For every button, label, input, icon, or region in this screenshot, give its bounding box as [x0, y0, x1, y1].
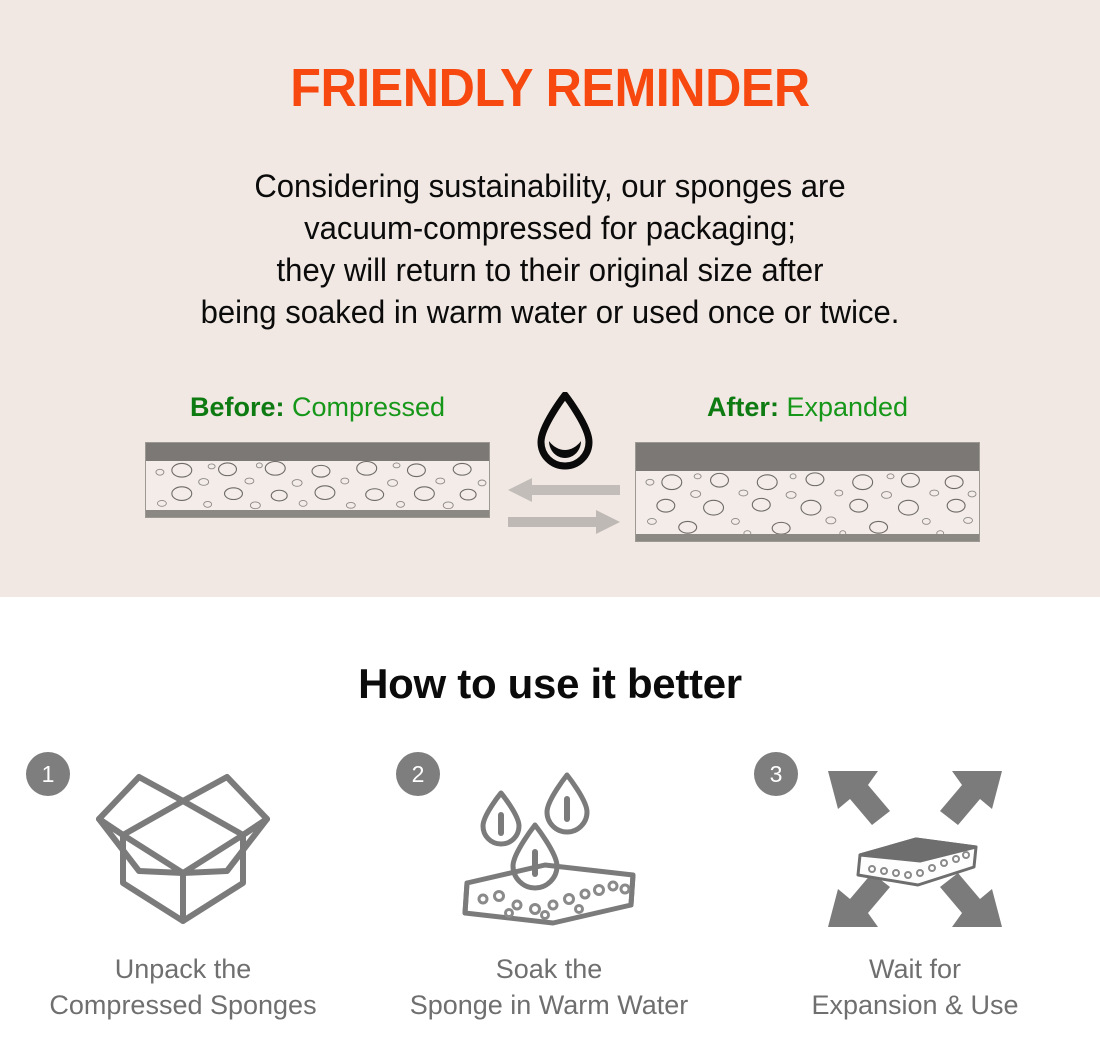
step-caption: Wait for Expansion & Use: [811, 951, 1018, 1023]
step-illustration: [93, 759, 273, 939]
step-illustration: [820, 759, 1010, 939]
step-item: 3: [732, 747, 1098, 1023]
step-caption-line: Expansion & Use: [811, 987, 1018, 1023]
reminder-body-line: vacuum-compressed for packaging;: [17, 207, 1084, 249]
before-column: Before: Compressed: [145, 392, 490, 518]
friendly-reminder-panel: FRIENDLY REMINDER Considering sustainabi…: [0, 0, 1100, 597]
sponge-base-edge: [636, 534, 979, 541]
reminder-body-text: Considering sustainability, our sponges …: [17, 165, 1084, 333]
exchange-arrows-icon: [508, 478, 620, 534]
sponge-pores: [636, 443, 979, 541]
compressed-sponge-illustration: [145, 442, 490, 518]
expanding-arrows-sponge-icon: [820, 763, 1010, 935]
reminder-body-line: they will return to their original size …: [17, 249, 1084, 291]
step-caption: Unpack the Compressed Sponges: [49, 951, 316, 1023]
step-caption-line: Sponge in Warm Water: [410, 987, 689, 1023]
how-to-use-title: How to use it better: [0, 660, 1100, 708]
reminder-body-line: being soaked in warm water or used once …: [17, 291, 1084, 333]
after-label: After: Expanded: [635, 392, 980, 422]
steps-list: 1 Unpack t: [0, 747, 1100, 1023]
after-column: After: Expanded: [635, 392, 980, 542]
step-number-badge: 3: [754, 752, 798, 796]
step-caption-line: Soak the: [410, 951, 689, 987]
step-item: 2: [366, 747, 732, 1023]
after-label-key: After:: [707, 392, 779, 422]
before-label: Before: Compressed: [145, 392, 490, 422]
sponge-pores: [146, 443, 489, 517]
step-number-badge: 2: [396, 752, 440, 796]
how-to-use-panel: How to use it better 1: [0, 597, 1100, 1039]
expanded-sponge-illustration: [635, 442, 980, 542]
sponge-base-edge: [146, 510, 489, 517]
water-drops-on-sponge-icon: [449, 763, 649, 935]
step-caption-line: Wait for: [811, 951, 1018, 987]
after-label-value: Expanded: [786, 392, 908, 422]
reminder-title: FRIENDLY REMINDER: [39, 57, 1062, 119]
infographic-page: FRIENDLY REMINDER Considering sustainabi…: [0, 0, 1100, 1039]
water-drop-icon: [532, 392, 598, 474]
step-number-badge: 1: [26, 752, 70, 796]
step-caption-line: Compressed Sponges: [49, 987, 316, 1023]
open-box-icon: [93, 763, 273, 935]
step-illustration: [449, 759, 649, 939]
transfer-icons-group: [500, 392, 630, 552]
before-label-value: Compressed: [292, 392, 445, 422]
step-item: 1 Unpack t: [0, 747, 366, 1023]
step-caption: Soak the Sponge in Warm Water: [410, 951, 689, 1023]
step-caption-line: Unpack the: [49, 951, 316, 987]
reminder-body-line: Considering sustainability, our sponges …: [17, 165, 1084, 207]
before-label-key: Before:: [190, 392, 285, 422]
before-after-comparison: Before: Compressed: [0, 392, 1100, 557]
